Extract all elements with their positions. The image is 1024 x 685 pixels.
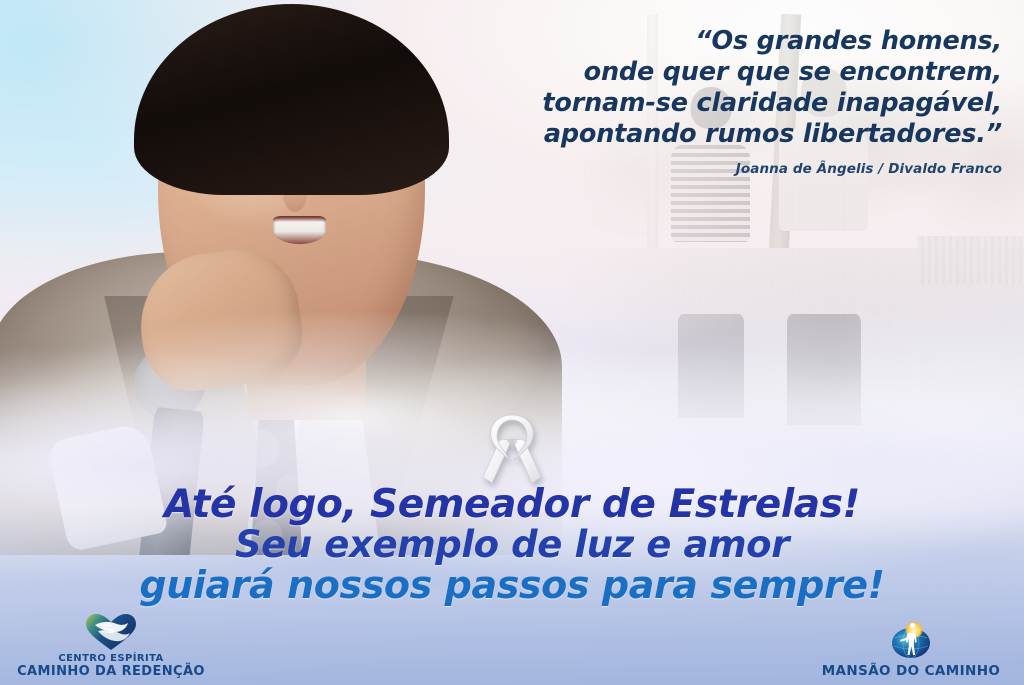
headline-line-3: guiará nossos passos para sempre! — [0, 565, 1024, 606]
quote-line-1: “Os grandes homens, — [442, 26, 1002, 57]
headline-block: Até logo, Semeador de Estrelas! Seu exem… — [0, 484, 1024, 606]
quote-attribution: Joanna de Ângelis / Divaldo Franco — [442, 161, 1002, 177]
poster-canvas: “Os grandes homens, onde quer que se enc… — [0, 0, 1024, 685]
logo-right-line-2: MANSÃO DO CAMINHO — [822, 664, 1001, 679]
logo-left-line-2: CAMINHO DA REDENÇÃO — [17, 665, 205, 679]
quote-block: “Os grandes homens, onde quer que se enc… — [442, 26, 1002, 177]
headline-line-2: Seu exemplo de luz e amor — [0, 525, 1024, 565]
quote-line-4: apontando rumos libertadores.” — [442, 119, 1002, 150]
quote-line-3: tornam-se claridade inapagável, — [442, 88, 1002, 119]
logo-centro-espirita[interactable]: CENTRO ESPÍRITA CAMINHO DA REDENÇÃO — [6, 612, 216, 679]
heart-hands-icon — [84, 612, 138, 652]
headline-line-1: Até logo, Semeador de Estrelas! — [0, 484, 1024, 525]
white-ribbon-icon — [476, 409, 548, 487]
globe-figure-torch-icon — [888, 618, 934, 662]
logo-mansao-do-caminho[interactable]: MANSÃO DO CAMINHO — [806, 618, 1016, 679]
quote-line-2: onde quer que se encontrem, — [442, 57, 1002, 88]
